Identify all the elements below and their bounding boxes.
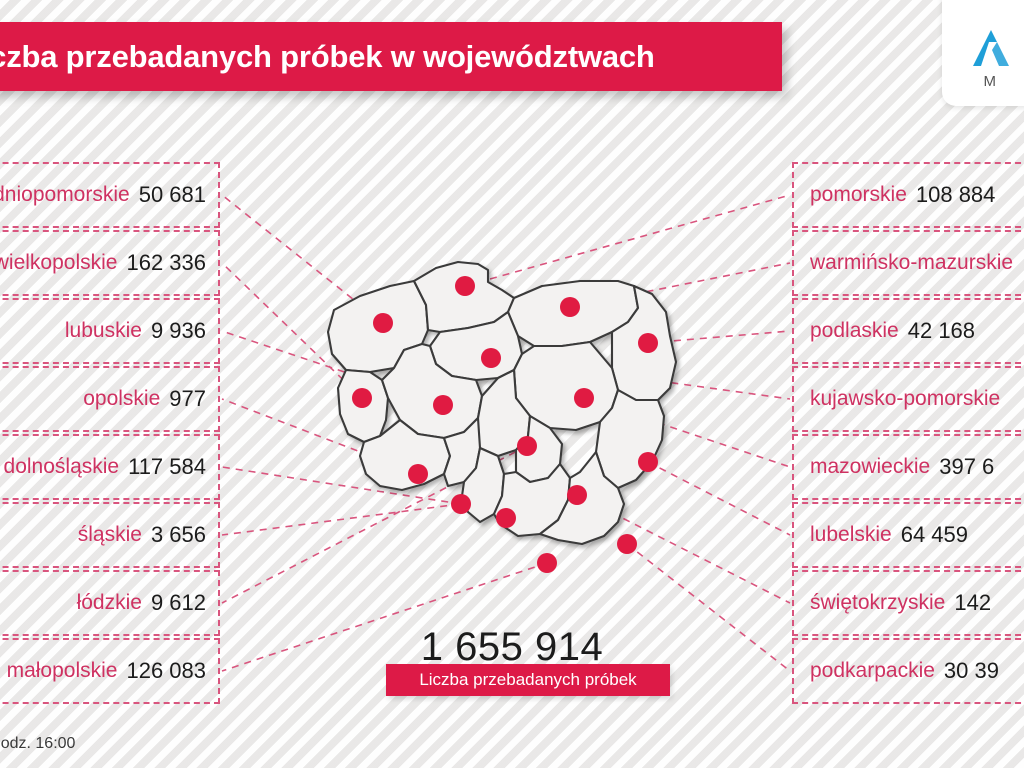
- map-dot: [352, 388, 372, 408]
- map-dot: [567, 485, 587, 505]
- timestamp-footnote: 2020 r., godz. 16:00: [0, 735, 75, 753]
- map-dot: [574, 388, 594, 408]
- map-dot: [496, 508, 516, 528]
- total-samples-caption: Liczba przebadanych próbek: [386, 664, 670, 696]
- map-dot: [537, 553, 557, 573]
- poland-map: [318, 250, 708, 610]
- map-dot: [617, 534, 637, 554]
- page-title: Liczba przebadanych próbek w województwa…: [0, 39, 655, 75]
- logo-panel: M: [942, 0, 1024, 106]
- map-dot: [638, 452, 658, 472]
- map-dot: [638, 333, 658, 353]
- map-dot: [560, 297, 580, 317]
- map-dot: [433, 395, 453, 415]
- map-dot: [408, 464, 428, 484]
- ministry-logo-mark-icon: [967, 28, 1013, 68]
- map-dot: [517, 436, 537, 456]
- map-dot: [455, 276, 475, 296]
- map-dot: [481, 348, 501, 368]
- map-dot: [451, 494, 471, 514]
- title-banner: Liczba przebadanych próbek w województwa…: [0, 22, 782, 91]
- logo-wordmark: M: [984, 73, 997, 90]
- map-dot: [373, 313, 393, 333]
